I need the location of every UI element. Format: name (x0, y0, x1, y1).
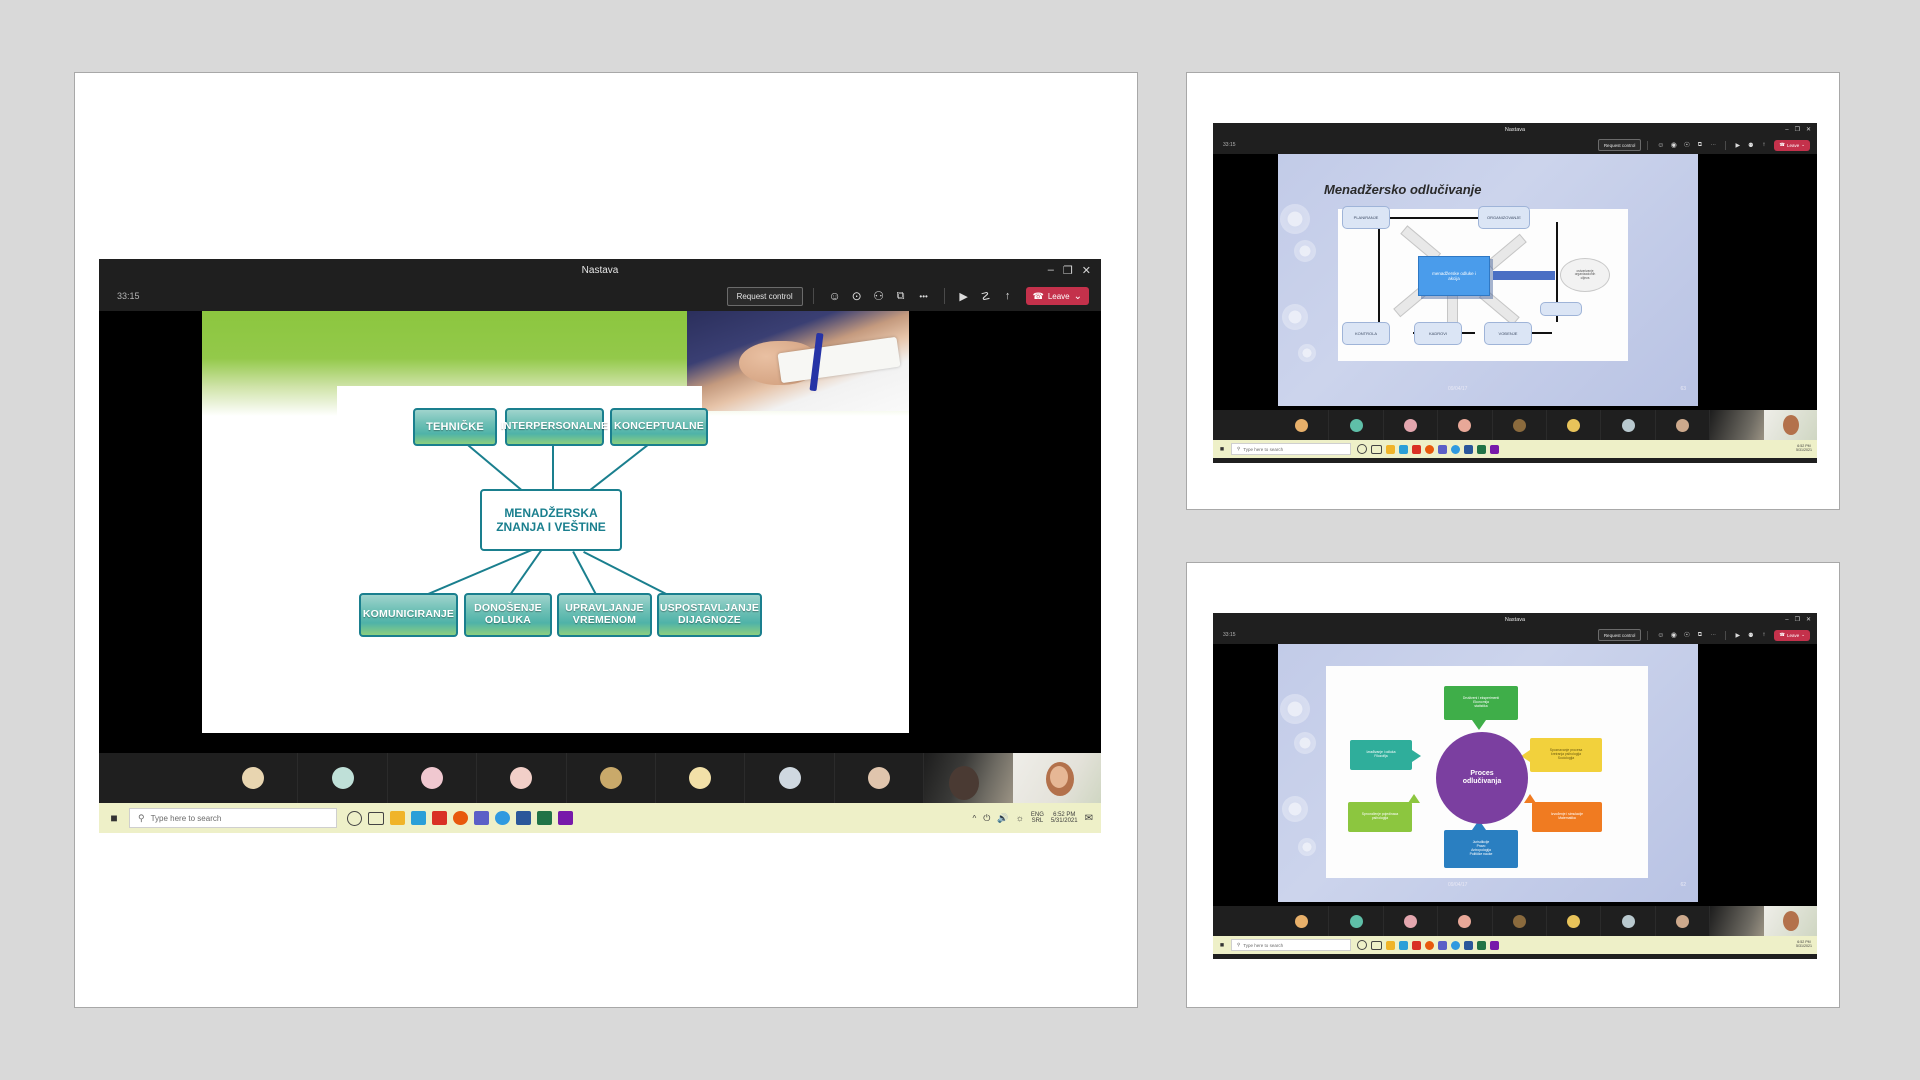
roster-participant[interactable] (1656, 410, 1710, 440)
share-screen-icon[interactable]: ↑ (1757, 142, 1770, 148)
leave-button[interactable]: ☎ Leave ⌄ (1774, 630, 1810, 641)
avatar (1622, 915, 1635, 928)
cortana-icon[interactable] (347, 811, 362, 826)
avatar (1676, 915, 1689, 928)
slide-title: Menadžersko odlučivanje (1324, 182, 1482, 197)
search-icon: ⚲ (138, 813, 145, 824)
slide-footer-date: 09/04/17 (1448, 386, 1467, 392)
graduation-photo (687, 311, 909, 411)
avatar (1404, 915, 1417, 928)
gear-decoration (1282, 304, 1308, 330)
toolbar-divider (1647, 631, 1648, 640)
gear-decoration (1298, 838, 1316, 856)
arrow-planiranje-organizovanje (1388, 217, 1483, 219)
excel-icon[interactable] (1477, 941, 1486, 950)
roster-spacer (1213, 906, 1275, 936)
meeting-controls: Request control ☺ ◉ ☉ ⧉ ⋯ ▶ ⚉ ↑ ☎ Leave … (1598, 136, 1810, 154)
roster-participant[interactable] (1438, 410, 1492, 440)
tray-notifications-icon[interactable]: ✉ (1085, 813, 1093, 824)
avatar (242, 767, 264, 789)
system-tray: ^ ⏻ 🔊 ☼ ENG SRL 6:52 PM 5/31/2021 ✉ (973, 812, 1093, 825)
outcome-oval[interactable]: ostvarivanje organizacionih ciljeva (1560, 258, 1610, 292)
leave-phone-icon: ☎ (1779, 632, 1785, 638)
avatar (1458, 419, 1471, 432)
windows-taskbar: ■ ⚲ Type here to search 6:52 PM (1213, 440, 1817, 458)
reactions-icon[interactable]: ☉ (1680, 631, 1693, 639)
toolbar-divider-2 (1725, 141, 1726, 150)
leave-label: Leave (1787, 143, 1799, 148)
toolbar-divider (1647, 141, 1648, 150)
explorer-icon[interactable] (1386, 941, 1395, 950)
leave-label: Leave (1048, 292, 1070, 301)
leave-dropdown-icon[interactable]: ⌄ (1801, 142, 1805, 148)
stage-box-kontrola[interactable]: KONTROLA (1342, 322, 1390, 345)
video-tile[interactable] (1710, 906, 1763, 936)
lightshot-icon[interactable] (1399, 445, 1408, 454)
request-control-button[interactable]: Request control (727, 287, 803, 306)
leave-phone-icon: ☎ (1033, 291, 1044, 302)
video-tile[interactable] (1764, 410, 1817, 440)
avatar (1567, 915, 1580, 928)
taskbar-icons (347, 811, 573, 826)
people-icon[interactable]: ☺ (824, 289, 846, 303)
tray-clock[interactable]: 6:52 PM 5/31/2021 (1796, 941, 1812, 949)
roster-spacer (1213, 410, 1275, 440)
search-placeholder: Type here to search (1243, 943, 1283, 948)
teams-icon[interactable] (1438, 445, 1447, 454)
skill-box-interpersonalne[interactable]: INTERPERSONALNE (505, 408, 604, 446)
tray-language[interactable]: ENG SRL (1031, 812, 1044, 825)
toolbar-divider-2 (944, 288, 945, 304)
excel-icon[interactable] (1477, 445, 1486, 454)
leave-phone-icon: ☎ (1779, 142, 1785, 148)
camera-icon[interactable]: ▶ (1731, 632, 1744, 639)
more-options-icon[interactable]: ••• (912, 292, 936, 301)
task-view-icon[interactable] (368, 812, 384, 825)
meeting-toolbar: 33:15 Request control ☺ ◉ ☉ ⧉ ⋯ ▶ ⚉ ↑ ☎ … (1213, 626, 1817, 644)
task-view-icon[interactable] (1371, 941, 1382, 950)
skill-box-konceptualne[interactable]: KONCEPTUALNE (610, 408, 708, 446)
request-control-button[interactable]: Request control (1598, 139, 1642, 151)
leave-button[interactable]: ☎ Leave ⌄ (1774, 140, 1810, 151)
reactions-icon[interactable]: ⚇ (868, 289, 890, 303)
roster-participant[interactable] (298, 753, 387, 803)
word-icon[interactable] (1464, 445, 1473, 454)
antivirus-icon[interactable] (1412, 445, 1421, 454)
call-timer: 33:15 (1223, 142, 1236, 148)
participant-roster (1213, 906, 1817, 936)
windows-start-icon[interactable]: ■ (1213, 440, 1231, 458)
word-icon[interactable] (516, 811, 531, 825)
avatar (421, 767, 443, 789)
gear-decoration (1282, 796, 1308, 822)
share-screen-icon[interactable]: ↑ (1757, 632, 1770, 638)
teams-icon[interactable] (474, 811, 489, 825)
roster-participant[interactable] (1329, 410, 1383, 440)
word-icon[interactable] (1464, 941, 1473, 950)
teams-icon[interactable] (1438, 941, 1447, 950)
windows-start-icon[interactable]: ■ (99, 803, 129, 833)
maximize-icon[interactable]: ❐ (1063, 264, 1073, 277)
maximize-icon[interactable]: ❐ (1795, 616, 1800, 623)
leave-button[interactable]: ☎ Leave ⌄ (1026, 287, 1089, 305)
factor-box-bottom-left[interactable]: Sprovođenje pojedinaca psihologija (1348, 802, 1412, 832)
skill-box-tehnicke[interactable]: TEHNIČKE (413, 408, 497, 446)
breakout-rooms-icon[interactable]: ⧉ (1693, 632, 1706, 639)
participant-roster (99, 753, 1101, 803)
teams-window-main: Nastava – ❐ ✕ 33:15 Request control ☺ ⊙ … (99, 259, 1101, 833)
leave-dropdown-icon[interactable]: ⌄ (1801, 632, 1805, 638)
avatar (1676, 419, 1689, 432)
onenote-icon[interactable] (1490, 941, 1499, 950)
breakout-rooms-icon[interactable]: ⧉ (890, 290, 912, 303)
minimize-icon[interactable]: – (1048, 264, 1054, 276)
teams-window-thumb-bottom: Nastava – ❐ ✕ 33:15 Request control ☺ ◉ … (1213, 613, 1817, 959)
meeting-controls: Request control ☺ ◉ ☉ ⧉ ⋯ ▶ ⚉ ↑ ☎ Leave … (1598, 626, 1810, 644)
slide-footer-date: 09/04/17 (1448, 882, 1467, 888)
avatar (779, 767, 801, 789)
blue-arrow-outcome (1493, 271, 1555, 280)
arrow-kontrola-planiranje (1378, 224, 1380, 324)
windows-taskbar: ■ ⚲ Type here to search 6:52 PM (1213, 936, 1817, 954)
antivirus-icon[interactable] (432, 811, 447, 825)
avatar (1567, 419, 1580, 432)
taskbar-icons (1357, 940, 1499, 950)
avatar (332, 767, 354, 789)
avatar (868, 767, 890, 789)
request-control-button[interactable]: Request control (1598, 629, 1642, 641)
main-screenshot-card: Nastava – ❐ ✕ 33:15 Request control ☺ ⊙ … (74, 72, 1138, 1008)
video-tile[interactable] (924, 753, 1012, 803)
minimize-icon[interactable]: – (1785, 127, 1788, 133)
gear-decoration (1280, 694, 1310, 724)
window-controls[interactable]: – ❐ ✕ (1785, 615, 1811, 624)
roster-participant[interactable] (745, 753, 834, 803)
roster-participant[interactable] (209, 753, 298, 803)
shared-screen-stage: TEHNIČKE INTERPERSONALNE KONCEPTUALNE ME… (99, 311, 1101, 753)
search-icon: ⚲ (1237, 446, 1240, 452)
roster-participant[interactable] (1656, 906, 1710, 936)
roster-participant[interactable] (1601, 410, 1655, 440)
avatar (689, 767, 711, 789)
meeting-controls: Request control ☺ ⊙ ⚇ ⧉ ••• ▶ ☡ ↑ ☎ Leav… (727, 281, 1089, 311)
reactions-icon[interactable]: ☉ (1680, 141, 1693, 149)
cortana-icon[interactable] (1357, 940, 1367, 950)
factor-box-top[interactable]: Društveni i eksperimenti Ekonomija stati… (1444, 686, 1518, 720)
slide-page-number: 63 (1680, 386, 1686, 392)
more-options-icon[interactable]: ⋯ (1706, 632, 1720, 638)
close-icon[interactable]: ✕ (1806, 126, 1811, 133)
avatar (1404, 419, 1417, 432)
excel-icon[interactable] (537, 811, 552, 825)
tray-date: 5/31/2021 (1051, 818, 1078, 824)
roster-participant[interactable] (1438, 906, 1492, 936)
firefox-icon[interactable] (1425, 445, 1434, 454)
arrow-bottom-right (1524, 794, 1536, 803)
factor-box-right[interactable]: Spoznavanje procesa kreiranja psihologij… (1530, 738, 1602, 772)
presented-slide: Menadžersko odlučivanje PLANIRANJE ORGAN… (1278, 154, 1698, 406)
chat-icon[interactable]: ⊙ (846, 289, 868, 303)
skype-icon[interactable] (1451, 941, 1460, 950)
avatar (1622, 419, 1635, 432)
share-screen-icon[interactable]: ↑ (997, 290, 1019, 302)
thumbnail-top-card: Nastava – ❐ ✕ 33:15 Request control ☺ ◉ … (1186, 72, 1840, 510)
core-box-managerial-decision[interactable]: menadžerske odluke i akcija (1418, 256, 1490, 296)
roster-spacer (99, 753, 209, 803)
avatar (1458, 915, 1471, 928)
stage-box-kadrovi[interactable]: KADROVI (1414, 322, 1462, 345)
camera-icon[interactable]: ▶ (953, 290, 975, 303)
skype-icon[interactable] (1451, 445, 1460, 454)
toolbar-divider-1 (813, 288, 814, 304)
system-tray: 6:52 PM 5/31/2021 (1796, 941, 1812, 949)
skill-box-donosenje-odluka[interactable]: DONOŠENJE ODLUKA (464, 593, 552, 637)
roster-participant[interactable] (1384, 410, 1438, 440)
shared-screen-stage: Menadžersko odlučivanje PLANIRANJE ORGAN… (1213, 154, 1817, 410)
factor-box-bottom[interactable]: Jurisdikcije Pravo Antropologija Politič… (1444, 830, 1518, 868)
roster-participant[interactable] (1275, 906, 1329, 936)
center-circle-process[interactable]: Proces odlučivanja (1436, 732, 1528, 824)
avatar (510, 767, 532, 789)
avatar (1350, 915, 1363, 928)
onenote-icon[interactable] (558, 811, 573, 825)
chat-icon[interactable]: ◉ (1667, 141, 1680, 149)
windows-taskbar: ■ ⚲ Type here to search ^ ⏻ (99, 803, 1101, 833)
presented-slide: Društveni i eksperimenti Ekonomija stati… (1278, 644, 1698, 902)
task-view-icon[interactable] (1371, 445, 1382, 454)
tray-clock[interactable]: 6:52 PM 5/31/2021 (1051, 812, 1078, 825)
window-title: Nastava (1505, 127, 1525, 133)
factor-box-bottom-right[interactable]: Izvođenje i simulacije Matematika (1532, 802, 1602, 832)
gear-decoration (1294, 240, 1316, 262)
close-icon[interactable]: ✕ (1806, 616, 1811, 623)
window-controls[interactable]: – ❐ ✕ (1048, 263, 1091, 277)
shared-screen-stage: Društveni i eksperimenti Ekonomija stati… (1213, 644, 1817, 906)
lightshot-icon[interactable] (1399, 941, 1408, 950)
windows-start-icon[interactable]: ■ (1213, 936, 1231, 954)
search-icon: ⚲ (1237, 942, 1240, 948)
arrow-left (1412, 750, 1421, 762)
roster-participant[interactable] (1601, 906, 1655, 936)
search-input[interactable]: ⚲ Type here to search (1231, 443, 1351, 455)
search-input[interactable]: ⚲ Type here to search (1231, 939, 1351, 951)
tray-expand-icon[interactable]: ^ (973, 814, 977, 823)
explorer-icon[interactable] (1386, 445, 1395, 454)
roster-participant[interactable] (656, 753, 745, 803)
search-placeholder: Type here to search (151, 814, 222, 823)
firefox-icon[interactable] (1425, 941, 1434, 950)
roster-participant[interactable] (477, 753, 566, 803)
breakout-rooms-icon[interactable]: ⧉ (1693, 142, 1706, 149)
window-title: Nastava (1505, 617, 1525, 623)
video-tile[interactable] (1764, 906, 1817, 936)
avatar (600, 767, 622, 789)
participant-roster (1213, 410, 1817, 440)
taskbar-icons (1357, 444, 1499, 454)
lightshot-icon[interactable] (411, 811, 426, 825)
arrow-bottom-left (1408, 794, 1420, 803)
avatar (1350, 419, 1363, 432)
window-title-bar: Nastava (1213, 123, 1817, 136)
camera-icon[interactable]: ▶ (1731, 142, 1744, 149)
leave-dropdown-icon[interactable]: ⌄ (1074, 291, 1082, 302)
roster-participant[interactable] (1384, 906, 1438, 936)
antivirus-icon[interactable] (1412, 941, 1421, 950)
avatar (1513, 915, 1526, 928)
stage-box-organizovanje[interactable]: ORGANIZOVANJE (1478, 206, 1530, 229)
slide-page-number: 62 (1680, 882, 1686, 888)
stage-box-planiranje[interactable]: PLANIRANJE (1342, 206, 1390, 229)
window-title: Nastava (582, 265, 619, 276)
skill-box-upravljanje-vremenom[interactable]: UPRAVLJANJE VREMENOM (557, 593, 652, 637)
microphone-muted-icon[interactable]: ⚉ (1744, 632, 1757, 639)
stage-box-extra[interactable] (1540, 302, 1582, 316)
microphone-muted-icon[interactable]: ⚉ (1744, 142, 1757, 149)
presented-slide: TEHNIČKE INTERPERSONALNE KONCEPTUALNE ME… (202, 311, 909, 733)
more-options-icon[interactable]: ⋯ (1706, 142, 1720, 148)
window-title-bar: Nastava (99, 259, 1101, 281)
tray-clock[interactable]: 6:52 PM 5/31/2021 (1796, 445, 1812, 453)
search-input[interactable]: ⚲ Type here to search (129, 808, 337, 828)
roster-participant[interactable] (835, 753, 924, 803)
tray-battery-icon[interactable]: ⏻ (983, 813, 990, 824)
people-icon[interactable]: ☺ (1654, 632, 1667, 639)
avatar (1295, 915, 1308, 928)
roster-participant[interactable] (1493, 906, 1547, 936)
chat-icon[interactable]: ◉ (1667, 631, 1680, 639)
onenote-icon[interactable] (1490, 445, 1499, 454)
video-tile[interactable] (1710, 410, 1763, 440)
roster-participant[interactable] (1275, 410, 1329, 440)
call-timer: 33:15 (1223, 632, 1236, 638)
tray-volume-icon[interactable]: 🔊 (997, 813, 1008, 824)
teams-window-thumb-top: Nastava – ❐ ✕ 33:15 Request control ☺ ◉ … (1213, 123, 1817, 463)
tray-date: 5/31/2021 (1796, 449, 1812, 453)
thumbnail-bottom-card: Nastava – ❐ ✕ 33:15 Request control ☺ ◉ … (1186, 562, 1840, 1008)
close-icon[interactable]: ✕ (1082, 264, 1091, 277)
toolbar-divider-2 (1725, 631, 1726, 640)
arrow-top (1472, 720, 1486, 730)
tray-network-icon[interactable]: ☼ (1016, 813, 1024, 823)
video-tile[interactable] (1013, 753, 1101, 803)
microphone-muted-icon[interactable]: ☡ (975, 290, 997, 303)
stage-box-vodenje[interactable]: VOĐENJE (1484, 322, 1532, 345)
avatar (1295, 419, 1308, 432)
window-controls[interactable]: – ❐ ✕ (1785, 125, 1811, 134)
search-placeholder: Type here to search (1243, 447, 1283, 452)
roster-participant[interactable] (388, 753, 477, 803)
connector-interpersonalne (552, 443, 554, 495)
explorer-icon[interactable] (390, 811, 405, 825)
roster-participant[interactable] (1493, 410, 1547, 440)
cortana-icon[interactable] (1357, 444, 1367, 454)
gear-decoration (1294, 732, 1316, 754)
roster-participant[interactable] (1547, 410, 1601, 440)
tray-date: 5/31/2021 (1796, 945, 1812, 949)
firefox-icon[interactable] (453, 811, 468, 825)
avatar (1513, 419, 1526, 432)
meeting-toolbar: 33:15 Request control ☺ ◉ ☉ ⧉ ⋯ ▶ ⚉ ↑ ☎ … (1213, 136, 1817, 154)
skype-icon[interactable] (495, 811, 510, 825)
roster-participant[interactable] (567, 753, 656, 803)
tray-language-line2: SRL (1032, 818, 1044, 824)
roster-participant[interactable] (1547, 906, 1601, 936)
skill-box-uspostavljanje-dijagnoze[interactable]: USPOSTAVLJANJE DIJAGNOZE (657, 593, 762, 637)
call-timer: 33:15 (117, 291, 140, 301)
roster-participant[interactable] (1329, 906, 1383, 936)
maximize-icon[interactable]: ❐ (1795, 126, 1800, 133)
gear-decoration (1298, 344, 1316, 362)
leave-label: Leave (1787, 633, 1799, 638)
system-tray: 6:52 PM 5/31/2021 (1796, 445, 1812, 453)
window-title-bar: Nastava (1213, 613, 1817, 626)
people-icon[interactable]: ☺ (1654, 142, 1667, 149)
meeting-toolbar: 33:15 Request control ☺ ⊙ ⚇ ⧉ ••• ▶ ☡ ↑ … (99, 281, 1101, 311)
gear-decoration (1280, 204, 1310, 234)
skill-box-center[interactable]: MENADŽERSKA ZNANJA I VEŠTINE (480, 489, 622, 551)
minimize-icon[interactable]: – (1785, 617, 1788, 623)
skill-box-komuniciranje[interactable]: KOMUNICIRANJE (359, 593, 458, 637)
factor-box-left[interactable]: Izrađivanje i odluka Filozofija (1350, 740, 1412, 770)
